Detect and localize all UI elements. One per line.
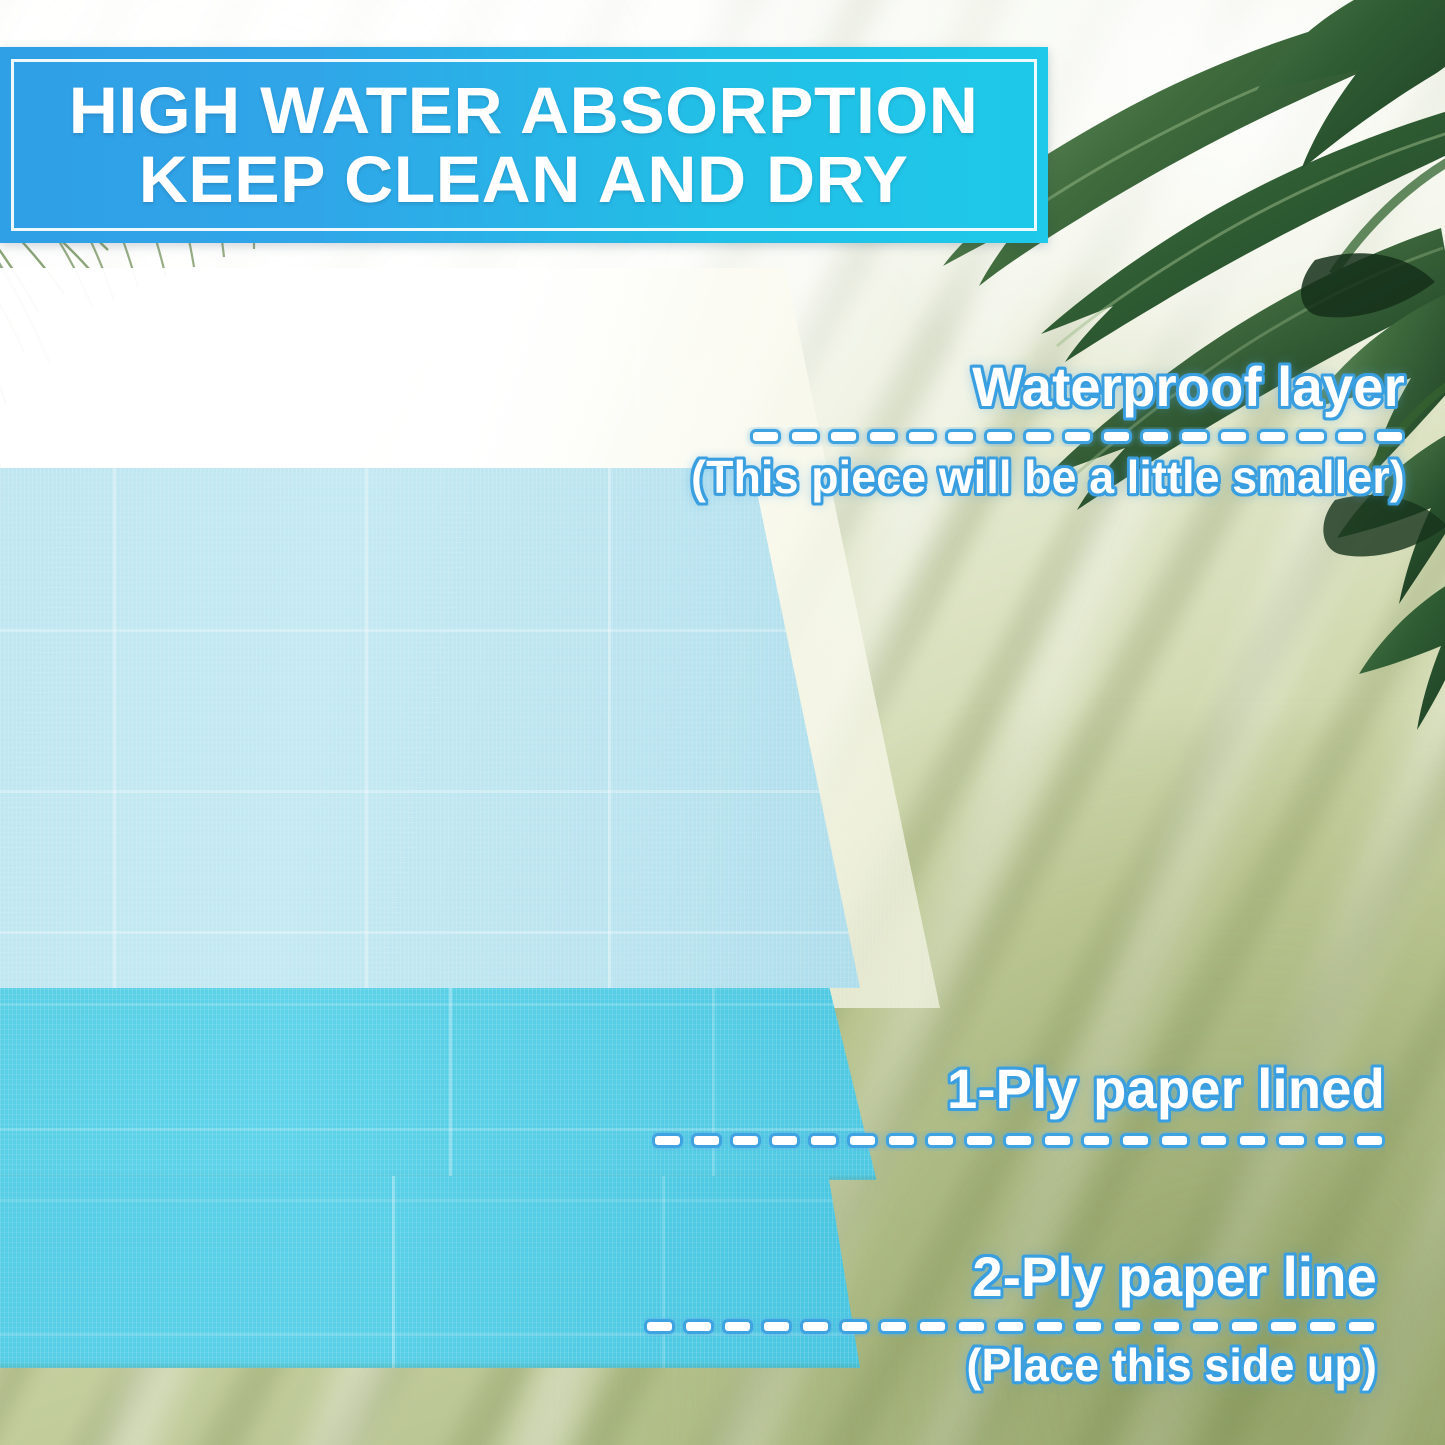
dash-segment [644, 1319, 675, 1334]
dash-segment [1062, 429, 1093, 444]
dash-segment [691, 1133, 722, 1148]
dash-segment [1354, 1133, 1385, 1148]
dash-segment [1151, 1319, 1182, 1334]
dash-segment [1346, 1319, 1377, 1334]
banner-headline-line-1: HIGH WATER ABSORPTION [69, 79, 979, 142]
dash-segment [1023, 429, 1054, 444]
dash-segment [1140, 429, 1171, 444]
dash-segment [906, 429, 937, 444]
dash-segment [1101, 429, 1132, 444]
dash-segment [1179, 429, 1210, 444]
dash-segment [995, 1319, 1026, 1334]
dash-segment [964, 1133, 995, 1148]
dash-segment [839, 1319, 870, 1334]
dash-segment [984, 429, 1015, 444]
dash-segment [769, 1133, 800, 1148]
callout-waterproof-dashline [669, 427, 1405, 447]
callout-one-ply-dashline [652, 1131, 1385, 1151]
callout-waterproof-title: Waterproof layer [691, 358, 1405, 417]
banner-headline-line-2: KEEP CLEAN AND DRY [139, 148, 909, 211]
dash-segment [808, 1133, 839, 1148]
dash-segment [1237, 1133, 1268, 1148]
dash-segment [750, 429, 781, 444]
header-banner-border: HIGH WATER ABSORPTION KEEP CLEAN AND DRY [11, 59, 1037, 231]
dash-segment [1268, 1319, 1299, 1334]
dash-segment [1003, 1133, 1034, 1148]
dash-segment [1034, 1319, 1065, 1334]
dash-segment [878, 1319, 909, 1334]
dash-segment [683, 1319, 714, 1334]
dash-segment [847, 1133, 878, 1148]
dash-segment [867, 429, 898, 444]
dash-segment [1296, 429, 1327, 444]
dash-segment [1198, 1133, 1229, 1148]
dash-segment [1120, 1133, 1151, 1148]
dash-segment [1374, 429, 1405, 444]
pale-blue-absorbent-layer [0, 468, 860, 988]
callout-one-ply: 1-Ply paper lined [652, 1060, 1385, 1151]
dash-segment [828, 429, 859, 444]
dash-segment [789, 429, 820, 444]
dash-segment [730, 1133, 761, 1148]
dash-segment [652, 1133, 683, 1148]
dash-segment [1276, 1133, 1307, 1148]
callout-two-ply-title: 2-Ply paper line [666, 1248, 1377, 1307]
callout-two-ply: 2-Ply paper line (Place this side up) [644, 1248, 1377, 1389]
dash-segment [1190, 1319, 1221, 1334]
header-banner: HIGH WATER ABSORPTION KEEP CLEAN AND DRY [0, 47, 1048, 243]
dash-segment [722, 1319, 753, 1334]
dash-segment [1112, 1319, 1143, 1334]
dash-segment [1073, 1319, 1104, 1334]
dash-segment [1229, 1319, 1260, 1334]
dash-segment [1257, 429, 1288, 444]
dash-segment [917, 1319, 948, 1334]
dash-segment [1042, 1133, 1073, 1148]
dash-segment [1218, 429, 1249, 444]
dash-segment [1159, 1133, 1190, 1148]
dash-segment [945, 429, 976, 444]
dash-segment [1315, 1133, 1346, 1148]
dash-segment [1081, 1133, 1112, 1148]
dash-segment [800, 1319, 831, 1334]
dash-segment [925, 1133, 956, 1148]
dash-segment [1335, 429, 1366, 444]
callout-one-ply-title: 1-Ply paper lined [674, 1060, 1385, 1119]
dash-segment [1307, 1319, 1338, 1334]
callout-two-ply-dashline [644, 1317, 1377, 1337]
product-infographic: HIGH WATER ABSORPTION KEEP CLEAN AND DRY… [0, 0, 1445, 1445]
callout-waterproof-note: (This piece will be a little smaller) [691, 453, 1405, 501]
dash-segment [956, 1319, 987, 1334]
callout-two-ply-note: (Place this side up) [666, 1341, 1377, 1389]
dash-segment [886, 1133, 917, 1148]
callout-waterproof: Waterproof layer (This piece will be a l… [669, 358, 1405, 501]
dash-segment [761, 1319, 792, 1334]
